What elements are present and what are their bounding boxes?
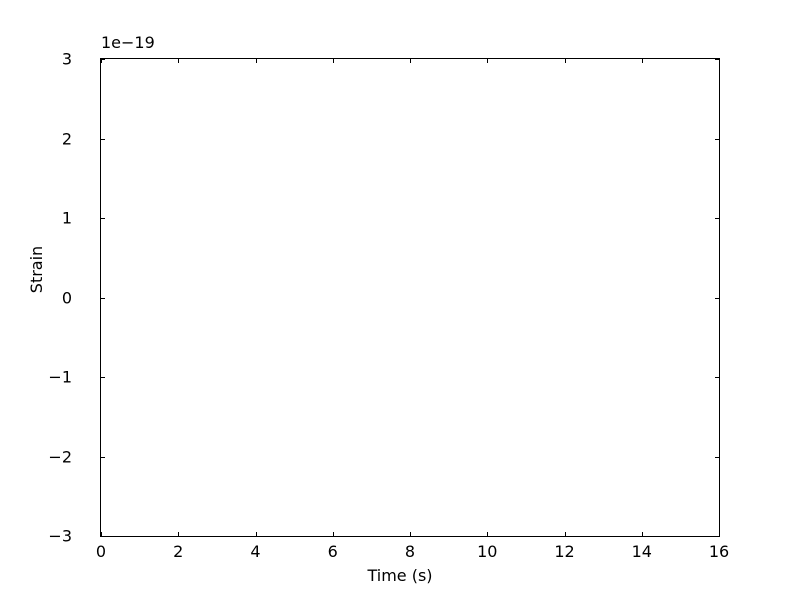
y-tick-mark — [101, 536, 105, 537]
strain-timeseries-trace — [101, 59, 719, 536]
y-tick-label: 2 — [62, 129, 72, 148]
y-tick-mark — [101, 59, 105, 60]
x-tick-mark — [487, 532, 488, 536]
x-tick-mark — [256, 532, 257, 536]
y-tick-mark — [715, 59, 719, 60]
x-tick-mark — [256, 59, 257, 63]
figure-canvas: 1e−19 0246810121416−3−2−10123 Time (s) S… — [0, 0, 800, 600]
y-axis-label: Strain — [27, 245, 46, 292]
x-tick-label: 8 — [405, 542, 415, 561]
x-tick-mark — [410, 59, 411, 63]
x-tick-mark — [333, 532, 334, 536]
x-tick-label: 6 — [328, 542, 338, 561]
x-tick-mark — [565, 532, 566, 536]
y-tick-label: −2 — [48, 447, 72, 466]
x-tick-label: 0 — [96, 542, 106, 561]
y-tick-mark — [715, 218, 719, 219]
x-tick-mark — [642, 59, 643, 63]
x-tick-label: 12 — [554, 542, 574, 561]
y-tick-label: 0 — [62, 288, 72, 307]
y-tick-mark — [101, 218, 105, 219]
x-tick-mark — [719, 532, 720, 536]
y-tick-mark — [101, 298, 105, 299]
x-axis-label: Time (s) — [0, 566, 800, 585]
x-tick-label: 10 — [477, 542, 497, 561]
y-tick-mark — [715, 457, 719, 458]
y-tick-label: −3 — [48, 527, 72, 546]
x-tick-mark — [410, 532, 411, 536]
x-tick-label: 14 — [632, 542, 652, 561]
x-tick-mark — [178, 59, 179, 63]
y-tick-mark — [715, 298, 719, 299]
y-tick-mark — [101, 139, 105, 140]
x-tick-mark — [487, 59, 488, 63]
x-tick-mark — [178, 532, 179, 536]
y-axis-offset-text: 1e−19 — [101, 33, 155, 52]
x-tick-label: 16 — [709, 542, 729, 561]
y-tick-mark — [101, 377, 105, 378]
y-tick-mark — [715, 377, 719, 378]
x-tick-mark — [642, 532, 643, 536]
x-tick-label: 4 — [250, 542, 260, 561]
y-axis-label-container: Strain — [0, 0, 60, 600]
x-tick-mark — [719, 59, 720, 63]
y-tick-label: 1 — [62, 209, 72, 228]
y-tick-label: 3 — [62, 50, 72, 69]
y-tick-label: −1 — [48, 368, 72, 387]
y-tick-mark — [101, 457, 105, 458]
plot-axes — [100, 58, 720, 537]
x-tick-mark — [333, 59, 334, 63]
x-tick-mark — [565, 59, 566, 63]
y-tick-mark — [715, 536, 719, 537]
x-tick-label: 2 — [173, 542, 183, 561]
y-tick-mark — [715, 139, 719, 140]
